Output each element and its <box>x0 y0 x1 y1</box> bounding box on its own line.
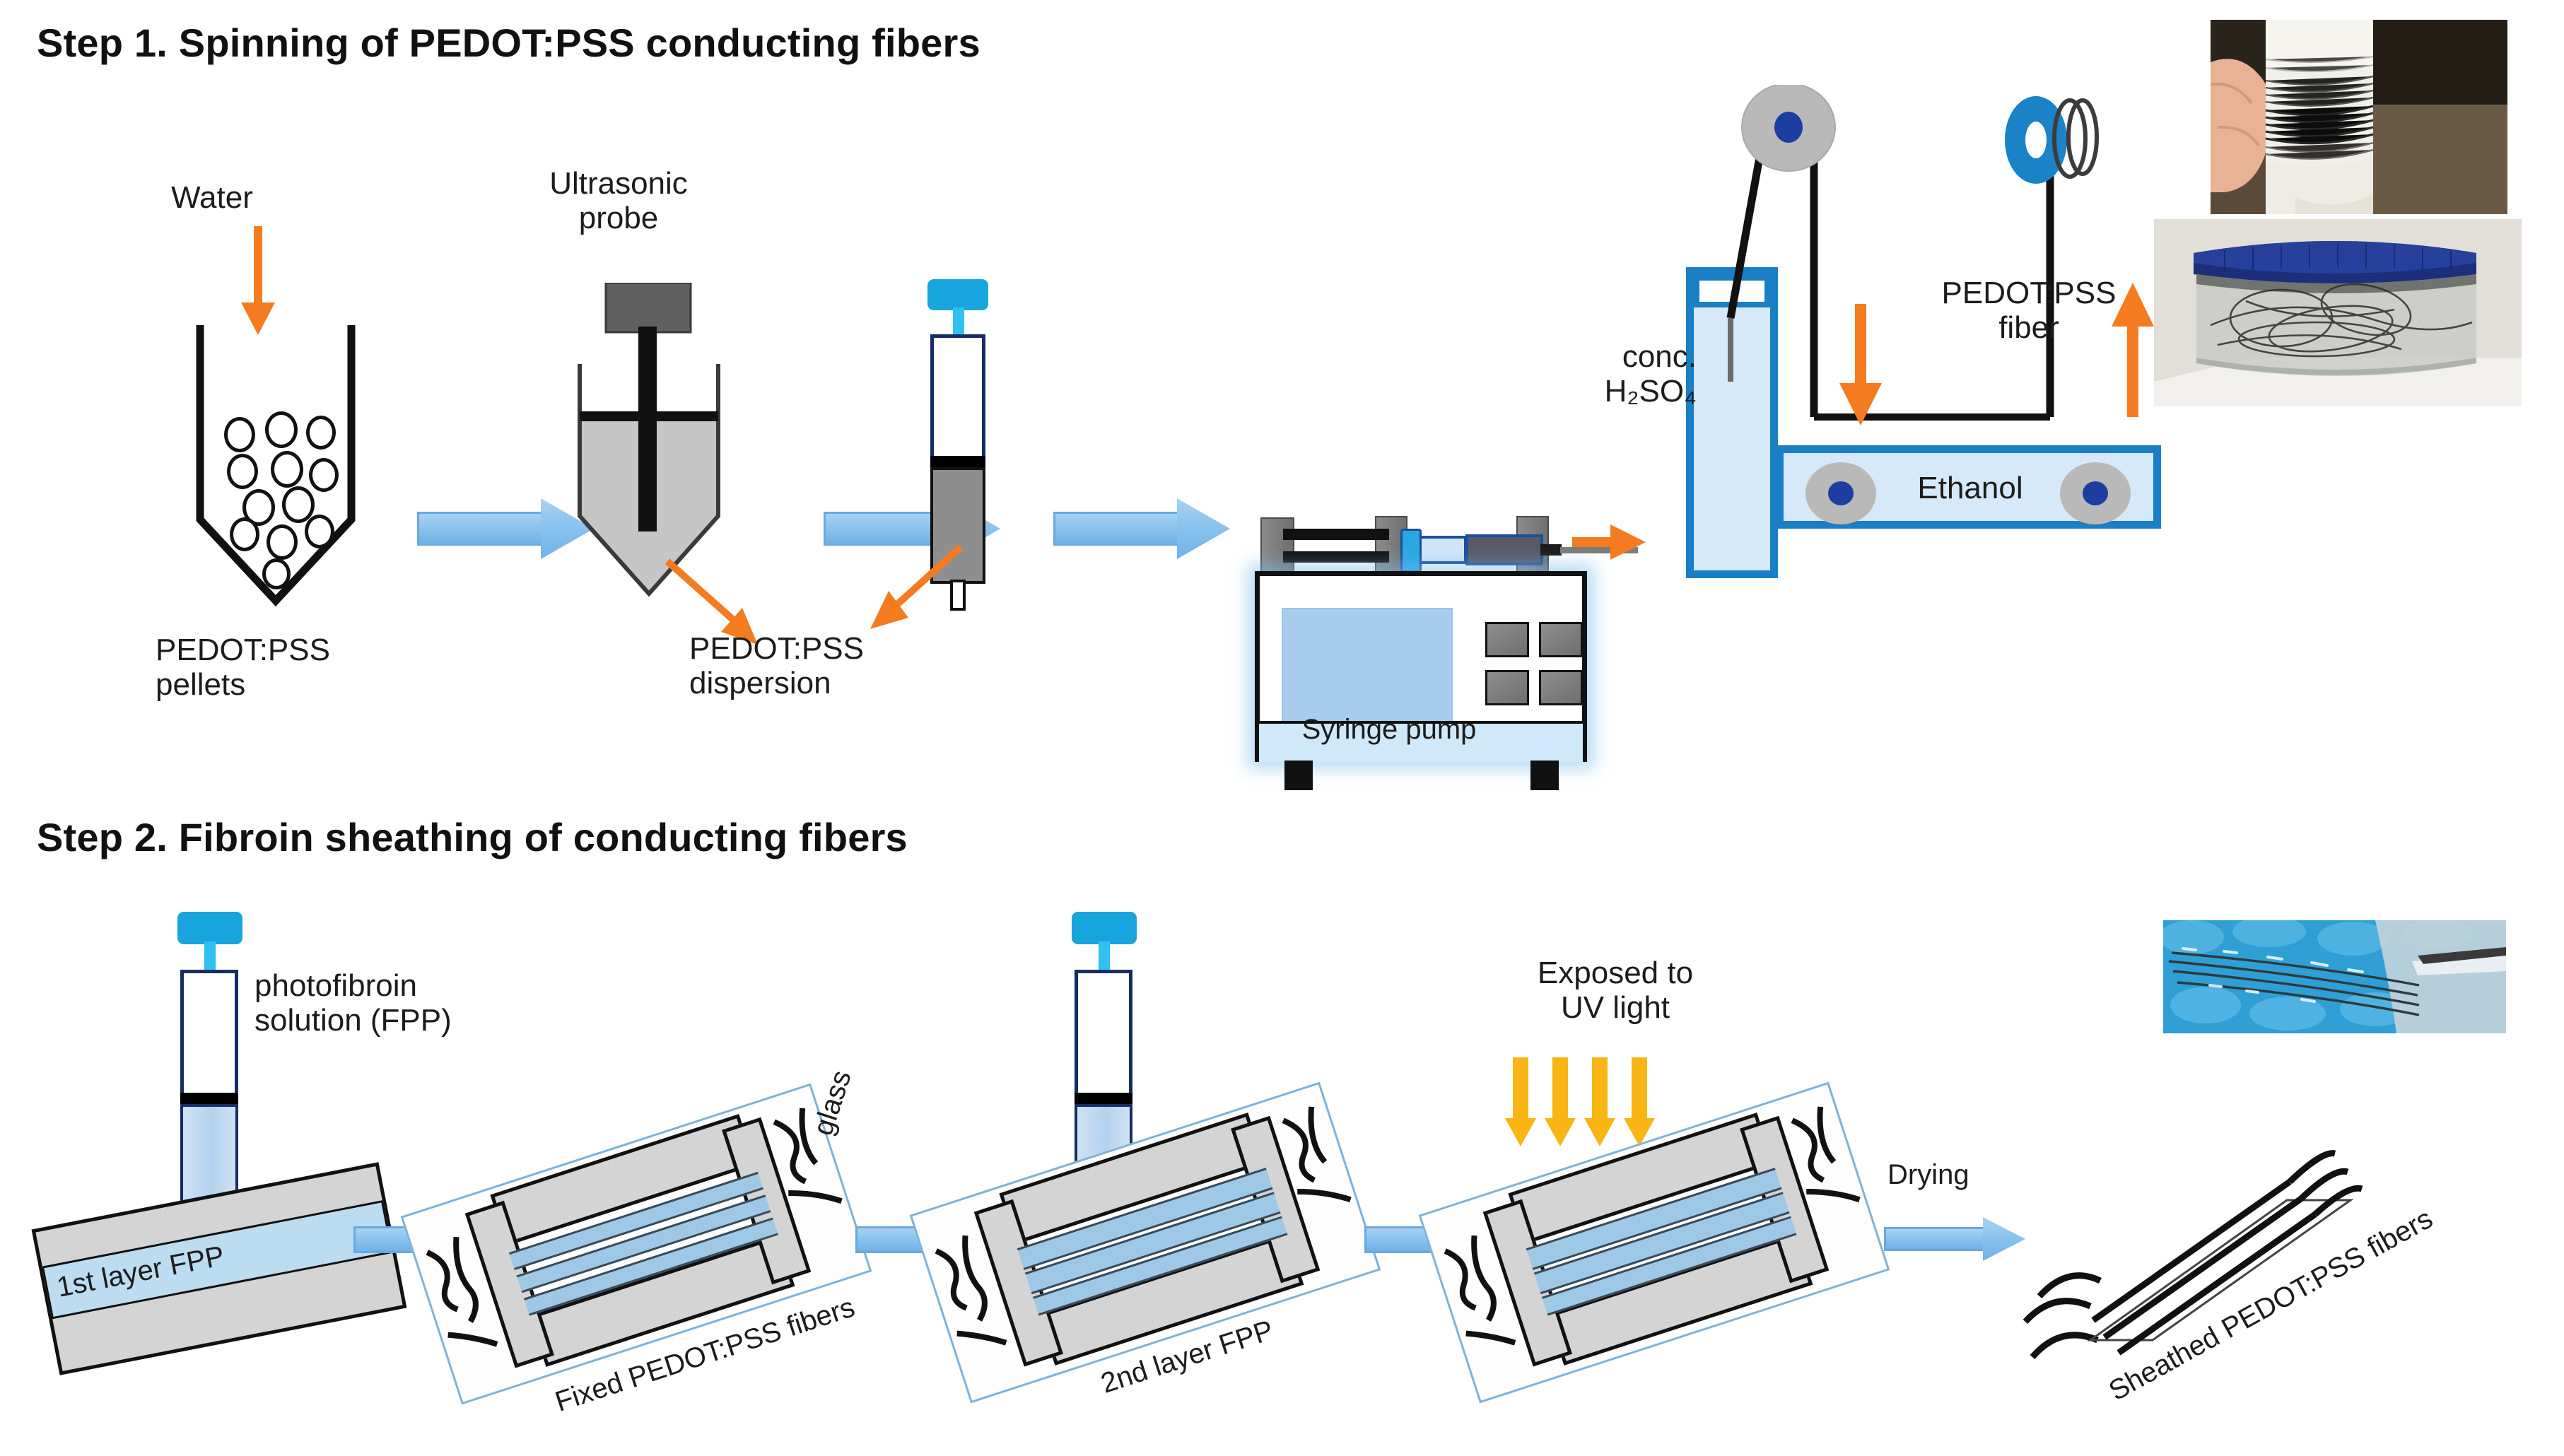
syringe-fpp-1 <box>159 912 258 1230</box>
label-pedot-pellets: PEDOT:PSS pellets <box>156 633 452 703</box>
syringe-dispersion <box>912 279 1004 576</box>
step1-title: Step 1. Spinning of PEDOT:PSS conducting… <box>37 20 980 66</box>
label-syringe-pump: Syringe pump <box>1283 714 1495 746</box>
photo-jar <box>2154 219 2522 406</box>
photo-spool <box>2211 20 2507 214</box>
label-ethanol: Ethanol <box>1899 471 2041 505</box>
sheathed-fiber-bundle <box>2018 1145 2457 1378</box>
label-photofibroin-solution: photofibroin solution (FPP) <box>254 968 707 1038</box>
label-ultrasonic-probe: Ultrasonic probe <box>495 166 742 236</box>
slide-fixed-fibers <box>401 1084 872 1405</box>
label-exposed-uv: Exposed to UV light <box>1467 956 1764 1026</box>
photo-slides <box>2163 920 2506 1033</box>
label-pedot-dispersion: PEDOT:PSS dispersion <box>689 631 1029 701</box>
process-arrow-7 <box>1884 1217 2025 1261</box>
slide-first-layer: 1st layer FPP <box>32 1162 407 1375</box>
process-arrow-3 <box>1053 498 1230 559</box>
label-pedot-fiber: PEDOT:PSS fiber <box>1909 276 2149 346</box>
extrusion-arrow <box>1572 523 1650 563</box>
dispersion-pointer-arrow-2 <box>859 544 965 636</box>
conical-vessel <box>187 325 364 608</box>
label-water: Water <box>120 180 304 215</box>
ethanol-bath: Ethanol <box>1776 445 2161 529</box>
label-conc-h2so4: conc. H₂SO₄ <box>1541 339 1697 409</box>
step2-title: Step 2. Fibroin sheathing of conducting … <box>37 814 908 860</box>
fiber-down-arrow <box>1837 304 1886 431</box>
